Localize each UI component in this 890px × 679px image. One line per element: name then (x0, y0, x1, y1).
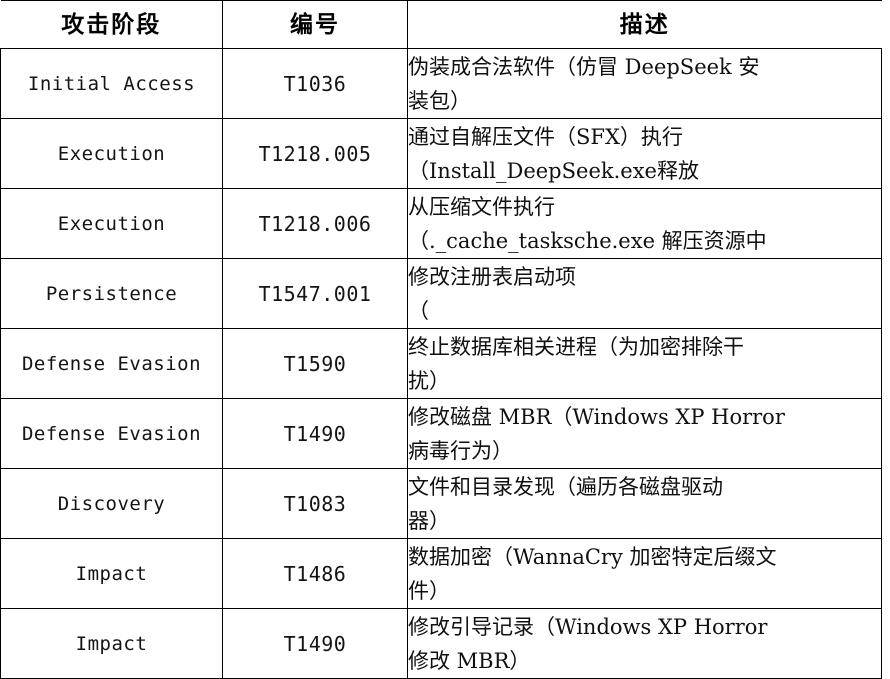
cell-description: 从压缩文件执行（._cache_tasksche.exe 解压资源中 (408, 189, 882, 259)
description-line: 数据加密（WannaCry 加密特定后缀文 (408, 540, 881, 574)
cell-attack-stage: Discovery (1, 469, 223, 539)
cell-description: 通过自解压文件（SFX）执行（Install_DeepSeek.exe释放 (408, 119, 882, 189)
cell-attack-stage: Defense Evasion (1, 329, 223, 399)
cell-technique-id: T1083 (223, 469, 408, 539)
description-line: 修改 MBR） (408, 644, 881, 678)
description-text: 数据加密（WannaCry 加密特定后缀文件） (408, 540, 881, 608)
table-row: Defense EvasionT1590终止数据库相关进程（为加密排除干扰） (1, 329, 882, 399)
cell-attack-stage: Execution (1, 119, 223, 189)
description-line: 装包） (408, 84, 881, 118)
description-line: （ (408, 294, 881, 328)
cell-attack-stage: Impact (1, 539, 223, 609)
column-header-attack-stage: 攻击阶段 (1, 1, 223, 49)
description-line: 器） (408, 504, 881, 538)
description-text: 修改注册表启动项（ (408, 260, 881, 328)
description-line: （Install_DeepSeek.exe释放 (408, 154, 881, 188)
description-line: 通过自解压文件（SFX）执行 (408, 120, 881, 154)
description-text: 修改引导记录（Windows XP Horror修改 MBR） (408, 610, 881, 678)
cell-technique-id: T1490 (223, 609, 408, 679)
cell-technique-id: T1036 (223, 49, 408, 119)
cell-description: 文件和目录发现（遍历各磁盘驱动器） (408, 469, 882, 539)
description-line: 终止数据库相关进程（为加密排除干 (408, 330, 881, 364)
description-line: 病毒行为） (408, 434, 881, 468)
cell-attack-stage: Execution (1, 189, 223, 259)
description-text: 修改磁盘 MBR（Windows XP Horror病毒行为） (408, 400, 881, 468)
description-line: 扰） (408, 364, 881, 398)
cell-technique-id: T1218.005 (223, 119, 408, 189)
cell-technique-id: T1490 (223, 399, 408, 469)
description-line: 从压缩文件执行 (408, 190, 881, 224)
description-line: （._cache_tasksche.exe 解压资源中 (408, 224, 881, 258)
cell-attack-stage: Impact (1, 609, 223, 679)
cell-description: 修改磁盘 MBR（Windows XP Horror病毒行为） (408, 399, 882, 469)
cell-attack-stage: Initial Access (1, 49, 223, 119)
description-line: 文件和目录发现（遍历各磁盘驱动 (408, 470, 881, 504)
table-row: ImpactT1486数据加密（WannaCry 加密特定后缀文件） (1, 539, 882, 609)
attack-technique-table: 攻击阶段 编号 描述 Initial AccessT1036伪装成合法软件（仿冒… (0, 0, 882, 679)
cell-description: 伪装成合法软件（仿冒 DeepSeek 安装包） (408, 49, 882, 119)
description-line: 件） (408, 574, 881, 608)
cell-technique-id: T1547.001 (223, 259, 408, 329)
description-line: 修改磁盘 MBR（Windows XP Horror (408, 400, 881, 434)
description-line: 伪装成合法软件（仿冒 DeepSeek 安 (408, 50, 881, 84)
cell-attack-stage: Defense Evasion (1, 399, 223, 469)
column-header-technique-id: 编号 (223, 1, 408, 49)
description-text: 通过自解压文件（SFX）执行（Install_DeepSeek.exe释放 (408, 120, 881, 188)
table-row: ExecutionT1218.005通过自解压文件（SFX）执行（Install… (1, 119, 882, 189)
cell-technique-id: T1590 (223, 329, 408, 399)
description-line: 修改注册表启动项 (408, 260, 881, 294)
description-text: 伪装成合法软件（仿冒 DeepSeek 安装包） (408, 50, 881, 118)
description-text: 从压缩文件执行（._cache_tasksche.exe 解压资源中 (408, 190, 881, 258)
table-header-row: 攻击阶段 编号 描述 (1, 1, 882, 49)
attack-technique-table-container: 攻击阶段 编号 描述 Initial AccessT1036伪装成合法软件（仿冒… (0, 0, 890, 677)
cell-attack-stage: Persistence (1, 259, 223, 329)
cell-description: 修改注册表启动项（ (408, 259, 882, 329)
description-text: 文件和目录发现（遍历各磁盘驱动器） (408, 470, 881, 538)
table-row: DiscoveryT1083文件和目录发现（遍历各磁盘驱动器） (1, 469, 882, 539)
cell-technique-id: T1486 (223, 539, 408, 609)
table-row: Initial AccessT1036伪装成合法软件（仿冒 DeepSeek 安… (1, 49, 882, 119)
table-body: Initial AccessT1036伪装成合法软件（仿冒 DeepSeek 安… (1, 49, 882, 679)
description-text: 终止数据库相关进程（为加密排除干扰） (408, 330, 881, 398)
cell-description: 修改引导记录（Windows XP Horror修改 MBR） (408, 609, 882, 679)
cell-description: 数据加密（WannaCry 加密特定后缀文件） (408, 539, 882, 609)
table-row: Defense EvasionT1490修改磁盘 MBR（Windows XP … (1, 399, 882, 469)
description-line: 修改引导记录（Windows XP Horror (408, 610, 881, 644)
cell-description: 终止数据库相关进程（为加密排除干扰） (408, 329, 882, 399)
table-header: 攻击阶段 编号 描述 (1, 1, 882, 49)
table-row: PersistenceT1547.001修改注册表启动项（ (1, 259, 882, 329)
column-header-description: 描述 (408, 1, 882, 49)
table-row: ImpactT1490修改引导记录（Windows XP Horror修改 MB… (1, 609, 882, 679)
table-row: ExecutionT1218.006从压缩文件执行（._cache_tasksc… (1, 189, 882, 259)
cell-technique-id: T1218.006 (223, 189, 408, 259)
